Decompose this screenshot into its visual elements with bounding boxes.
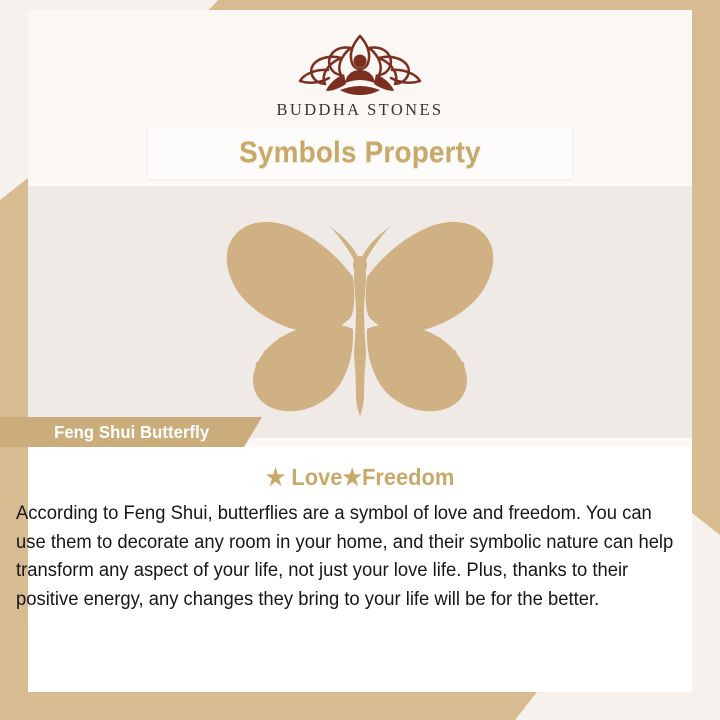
subheading-love-freedom: ★ Love★Freedom (45, 447, 676, 491)
lotus-meditation-figure-icon (285, 28, 435, 98)
page-title: Symbols Property (239, 136, 481, 170)
monarch-butterfly-icon (195, 205, 525, 420)
brand-logo: BUDDHA STONES (28, 28, 692, 120)
body-paragraph: According to Feng Shui, butterflies are … (16, 499, 678, 613)
brand-wordmark: BUDDHA STONES (276, 100, 443, 120)
frame-band-bottom (0, 692, 537, 720)
feng-shui-butterfly-tag: Feng Shui Butterfly (0, 417, 262, 447)
infographic-page: BUDDHA STONES Symbols Property (0, 0, 720, 720)
tag-label: Feng Shui Butterfly (54, 422, 209, 443)
frame-band-left (0, 178, 28, 720)
description-panel: ★ Love★Freedom According to Feng Shui, b… (28, 447, 692, 692)
title-band: Symbols Property (148, 127, 572, 179)
frame-band-right (692, 0, 720, 535)
butterfly-panel (28, 186, 692, 438)
content-card: BUDDHA STONES Symbols Property (28, 10, 692, 692)
